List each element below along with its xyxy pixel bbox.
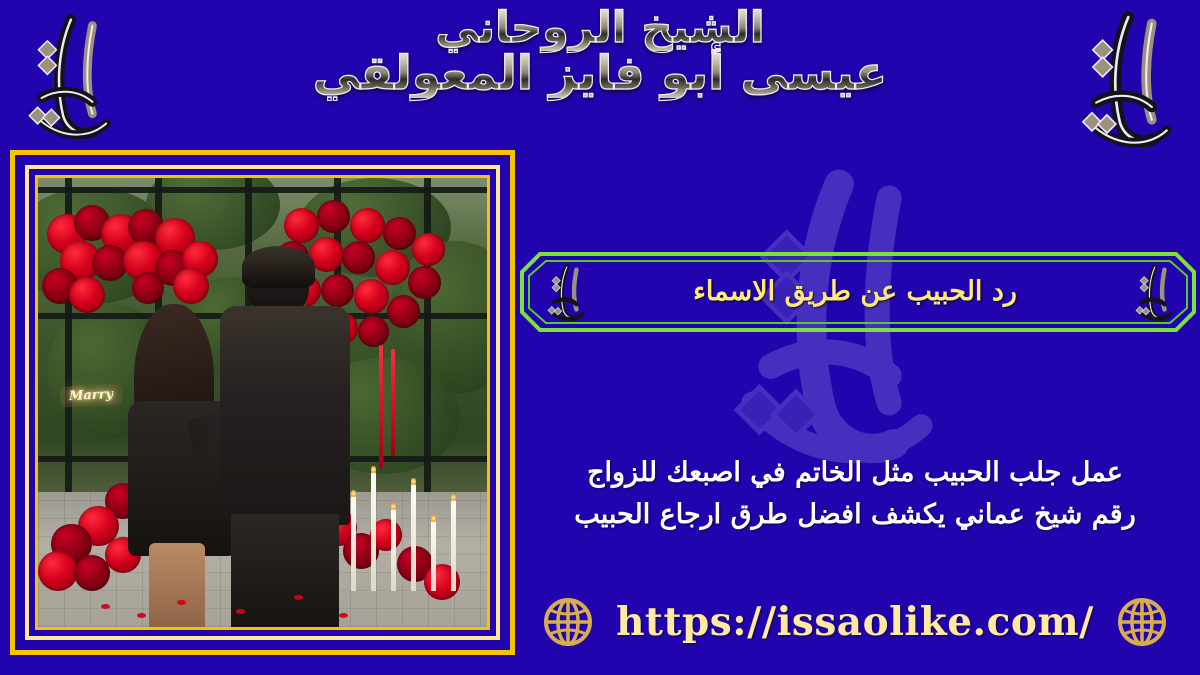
man-shirt xyxy=(220,306,349,525)
calligraphy-logo-icon xyxy=(1122,260,1184,324)
photo-frame: Marry Me xyxy=(10,150,515,655)
proposal-photo: Marry Me xyxy=(38,178,487,627)
globe-icon xyxy=(1116,596,1168,648)
website-url-link[interactable]: https://issaolike.com/ xyxy=(616,599,1094,645)
photo-frame-inner-border: Marry Me xyxy=(25,165,500,640)
photo-frame-inner-border-2: Marry Me xyxy=(35,175,490,630)
rose-petal xyxy=(137,613,146,618)
page-title-line1: الشيخ الروحاني xyxy=(150,6,1050,51)
rose-petal xyxy=(177,600,186,605)
body-line-1: عمل جلب الحبيب مثل الخاتم في اصبعك للزوا… xyxy=(520,452,1190,494)
man-figure xyxy=(218,250,353,627)
badge-label: رد الحبيب عن طريق الاسماء xyxy=(598,252,1112,332)
calligraphy-logo-icon xyxy=(534,260,596,324)
woman-legs xyxy=(149,543,205,627)
calligraphy-logo-icon xyxy=(1054,0,1194,155)
candle-stand xyxy=(343,438,469,591)
body-line-2: رقم شيخ عماني يكشف افضل طرق ارجاع الحبيب xyxy=(520,494,1190,536)
promo-poster: الشيخ الروحاني عيسى أبو فايز المعولقي xyxy=(0,0,1200,675)
status-badge: رد الحبيب عن طريق الاسماء xyxy=(520,252,1196,332)
rose-petal xyxy=(339,613,348,618)
website-footer[interactable]: https://issaolike.com/ xyxy=(520,596,1190,648)
page-title-line2: عيسى أبو فايز المعولقي xyxy=(150,49,1050,98)
body-text-block: عمل جلب الحبيب مثل الخاتم في اصبعك للزوا… xyxy=(520,452,1190,536)
man-hair xyxy=(242,246,315,287)
neon-sign-marry: Marry xyxy=(60,383,123,407)
globe-icon xyxy=(542,596,594,648)
poster-header: الشيخ الروحاني عيسى أبو فايز المعولقي xyxy=(150,6,1050,98)
man-trousers xyxy=(231,514,339,627)
calligraphy-logo-icon xyxy=(8,4,126,146)
rose-petal xyxy=(101,604,110,609)
rose-petal xyxy=(236,609,245,614)
rose-petal xyxy=(294,595,303,600)
